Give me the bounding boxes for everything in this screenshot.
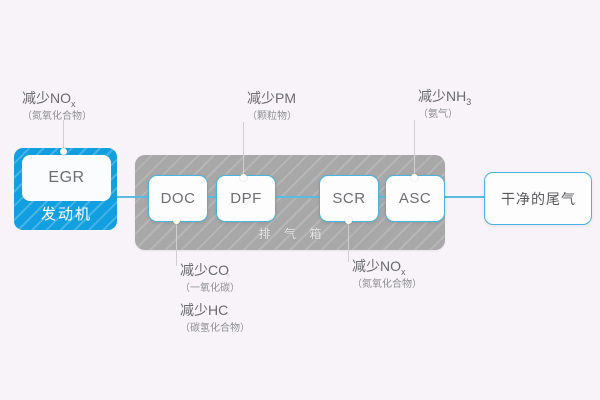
annotation-egr-nox-title: 减少NOx (22, 90, 92, 109)
leader-line-scr-nox (348, 220, 349, 262)
node-asc[interactable]: ASC (385, 175, 445, 222)
link-engine-to-doc (117, 196, 148, 198)
annotation-dpf-pm: 减少PM （颗粒物） (247, 90, 297, 123)
leader-dot-doc-co (173, 217, 180, 224)
leader-dot-scr-nox (345, 217, 352, 224)
annotation-scr-nox-title: 减少NOx (352, 258, 422, 277)
leader-line-dpf-pm (243, 122, 244, 177)
annotation-doc-hc-title: 减少HC (180, 302, 250, 321)
node-clean-exhaust[interactable]: 干净的尾气 (484, 172, 592, 225)
engine-label: 发动机 (14, 203, 117, 224)
node-scr[interactable]: SCR (319, 175, 379, 222)
leader-dot-dpf-pm (240, 174, 247, 181)
diagram-canvas: 排 气 箱 EGR 发动机 DOC DPF SCR ASC 干净的尾气 减少NO… (0, 0, 600, 400)
leader-dot-egr-nox (60, 148, 67, 155)
annotation-scr-nox-subtitle: （氮氧化合物） (352, 279, 422, 291)
annotation-doc-hc: 减少HC （碳氢化合物） (180, 302, 250, 335)
annotation-dpf-pm-subtitle: （颗粒物） (247, 111, 297, 123)
link-asc-to-output (443, 196, 484, 198)
annotation-egr-nox: 减少NOx （氮氧化合物） (22, 90, 92, 123)
annotation-doc-hc-subtitle: （碳氢化合物） (180, 323, 250, 335)
annotation-asc-nh3: 减少NH3 （氨气） (418, 88, 471, 121)
link-dpf-to-scr (274, 196, 319, 198)
annotation-dpf-pm-title: 减少PM (247, 90, 297, 109)
leader-line-doc-co (176, 220, 177, 266)
annotation-doc-co-title: 减少CO (180, 262, 240, 281)
annotation-asc-nh3-title: 减少NH3 (418, 88, 471, 107)
annotation-egr-nox-subtitle: （氮氧化合物） (22, 111, 92, 123)
annotation-doc-co: 减少CO （一氧化碳） (180, 262, 240, 295)
exhaust-box-label: 排 气 箱 (135, 225, 445, 242)
engine-block[interactable]: EGR 发动机 (14, 148, 117, 230)
annotation-scr-nox: 减少NOx （氮氧化合物） (352, 258, 422, 291)
annotation-asc-nh3-subtitle: （氨气） (418, 109, 471, 121)
annotation-doc-co-subtitle: （一氧化碳） (180, 283, 240, 295)
leader-dot-asc-nh3 (411, 174, 418, 181)
egr-node[interactable]: EGR (22, 155, 111, 201)
node-doc[interactable]: DOC (148, 175, 208, 222)
node-dpf[interactable]: DPF (216, 175, 276, 222)
leader-line-asc-nh3 (414, 120, 415, 177)
